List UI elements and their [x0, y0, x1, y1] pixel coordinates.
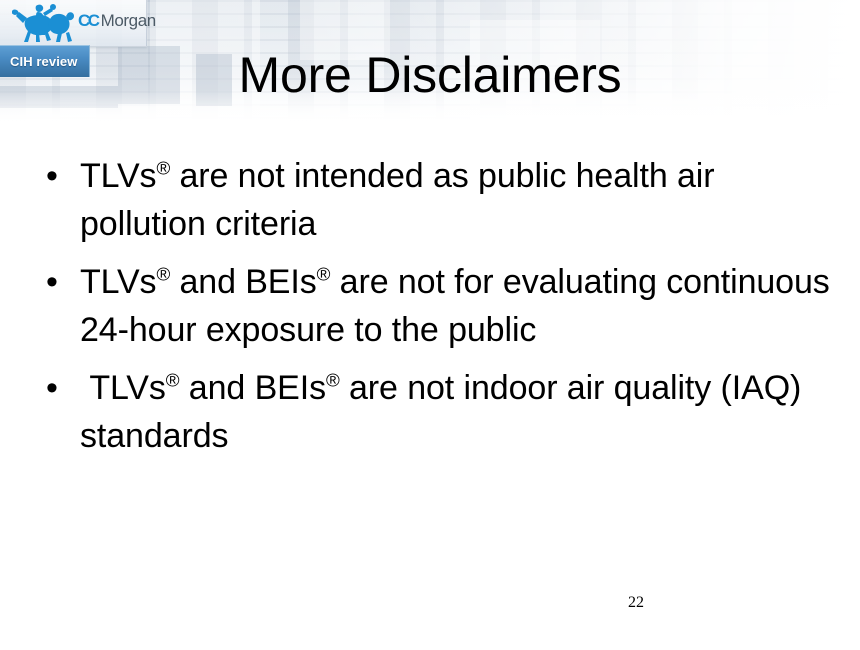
- bullet-item-1: • TLVs® are not intended as public healt…: [40, 152, 830, 248]
- bullet-text-1: TLVs® are not intended as public health …: [80, 152, 830, 248]
- bullet-1-line-1-pre: TLVs: [80, 157, 156, 195]
- bullet-1-line-1-post: are not intended as public health air: [170, 157, 714, 195]
- brand-logo-cc: CC: [78, 11, 98, 30]
- bullet-2-line-1-mid: and BEIs: [170, 263, 317, 301]
- registered-trademark-icon: ®: [156, 264, 170, 285]
- bullet-1-line-2: pollution criteria: [80, 205, 316, 243]
- bullet-3-line-1-post: are not indoor air quality: [340, 369, 712, 407]
- registered-trademark-icon: ®: [317, 264, 331, 285]
- bullet-3-line-1-pre: TLVs: [80, 369, 166, 407]
- bullet-2-line-1-post: are not for evaluating: [330, 263, 657, 301]
- bullet-item-3: • TLVs® and BEIs® are not indoor air qua…: [40, 364, 830, 460]
- brand-logo: CCMorgan: [0, 0, 147, 47]
- bullet-marker-icon: •: [40, 364, 80, 412]
- slide-body: • TLVs® are not intended as public healt…: [40, 152, 830, 470]
- bullet-3-line-1-mid: and BEIs: [179, 369, 326, 407]
- bullet-item-2: • TLVs® and BEIs® are not for evaluating…: [40, 258, 830, 354]
- bullet-marker-icon: •: [40, 258, 80, 306]
- brand-logo-wordmark: CCMorgan: [78, 11, 156, 31]
- bullet-text-3: TLVs® and BEIs® are not indoor air quali…: [80, 364, 830, 460]
- page-number: 22: [628, 594, 644, 612]
- registered-trademark-icon: ®: [156, 158, 170, 179]
- bullet-marker-icon: •: [40, 152, 80, 200]
- brand-logo-name: Morgan: [101, 11, 156, 30]
- bullet-text-2: TLVs® and BEIs® are not for evaluating c…: [80, 258, 830, 354]
- morgan-equestrian-logo-icon: [12, 3, 74, 43]
- registered-trademark-icon: ®: [166, 370, 180, 391]
- registered-trademark-icon: ®: [326, 370, 340, 391]
- bullet-2-line-1-pre: TLVs: [80, 263, 156, 301]
- page-title: More Disclaimers: [0, 48, 860, 103]
- presentation-slide: CCMorgan CIH review More Disclaimers • T…: [0, 0, 860, 650]
